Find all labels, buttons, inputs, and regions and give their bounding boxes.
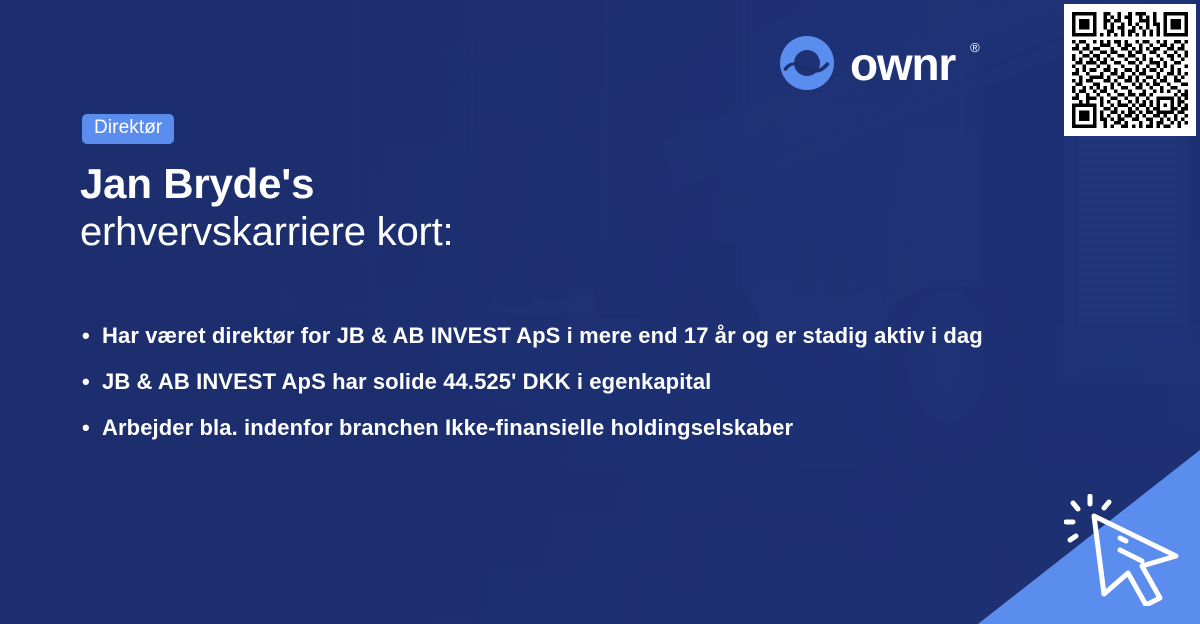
ownr-logo[interactable]: ownr ®	[778, 34, 1028, 92]
fact-list: Har været direktør for JB & AB INVEST Ap…	[80, 313, 1060, 451]
card-subtitle: erhvervskarriere kort:	[80, 207, 453, 257]
click-cursor-icon	[1064, 494, 1186, 606]
registered-trademark-icon: ®	[970, 41, 980, 54]
role-badge: Direktør	[82, 114, 174, 144]
ownr-circle-swoosh-icon	[778, 34, 836, 92]
list-item: Har været direktør for JB & AB INVEST Ap…	[80, 313, 1060, 359]
list-item: JB & AB INVEST ApS har solide 44.525' DK…	[80, 359, 1060, 405]
person-name-title: Jan Bryde's	[80, 158, 314, 210]
ownr-wordmark: ownr	[850, 41, 955, 87]
list-item-text: Arbejder bla. indenfor branchen Ikke-fin…	[102, 405, 1060, 451]
list-item: Arbejder bla. indenfor branchen Ikke-fin…	[80, 405, 1060, 451]
business-card-banner: Direktør Jan Bryde's erhvervskarriere ko…	[0, 0, 1200, 624]
list-item-text: Har været direktør for JB & AB INVEST Ap…	[102, 313, 1060, 359]
qr-code-icon[interactable]	[1064, 4, 1196, 136]
list-item-text: JB & AB INVEST ApS har solide 44.525' DK…	[102, 359, 1060, 405]
card-content: Direktør Jan Bryde's erhvervskarriere ko…	[0, 0, 1200, 624]
